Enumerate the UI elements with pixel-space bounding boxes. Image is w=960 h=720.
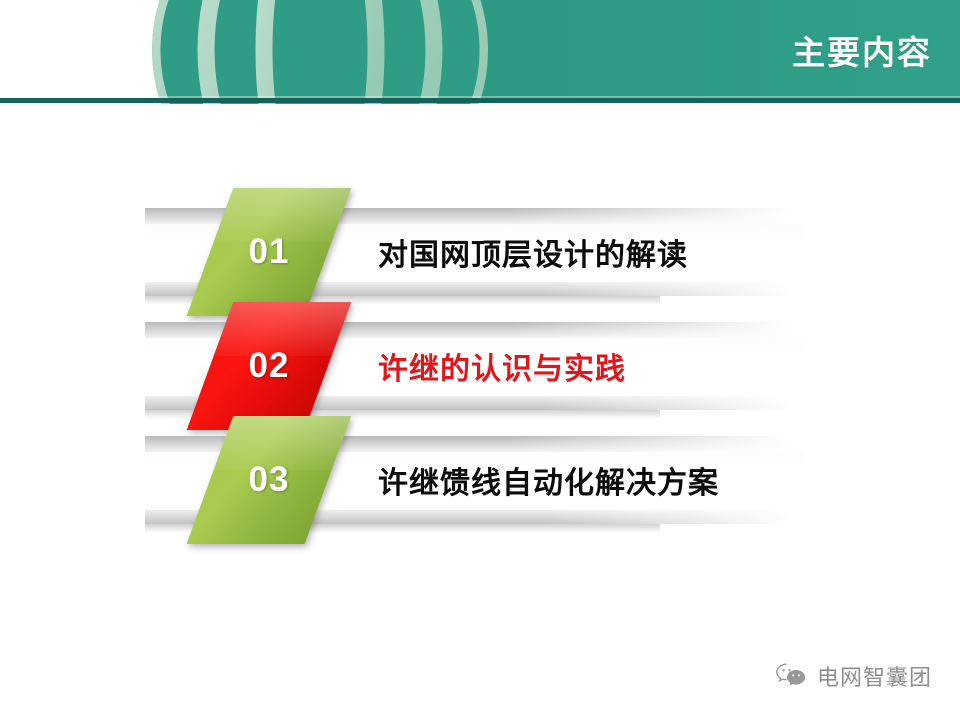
item-number-badge[interactable]: 01: [187, 188, 352, 316]
item-label: 许继馈线自动化解决方案: [378, 424, 719, 536]
item-number-badge[interactable]: 02: [187, 302, 352, 430]
page-title: 主要内容: [792, 36, 932, 69]
item-number: 03: [210, 416, 328, 544]
item-number: 02: [210, 302, 328, 430]
list-item[interactable]: 03 许继馈线自动化解决方案: [0, 424, 960, 536]
item-number-badge[interactable]: 03: [187, 416, 352, 544]
item-label: 对国网顶层设计的解读: [378, 196, 688, 308]
header-rule: [0, 98, 960, 103]
contents-list: 01 对国网顶层设计的解读 02 许继的认识与实践: [0, 196, 960, 556]
watermark-label: 电网智囊团: [817, 660, 932, 692]
footer-watermark: 电网智囊团: [774, 660, 932, 692]
globe-grid-icon: [150, 0, 490, 104]
slide-canvas: 主要内容 01 对国网顶层设计的解读: [0, 0, 960, 720]
item-label: 许继的认识与实践: [378, 310, 626, 422]
slide-header: 主要内容: [0, 0, 960, 104]
list-item[interactable]: 02 许继的认识与实践: [0, 310, 960, 422]
wechat-icon: [774, 662, 808, 690]
item-number: 01: [210, 188, 328, 316]
list-item[interactable]: 01 对国网顶层设计的解读: [0, 196, 960, 308]
